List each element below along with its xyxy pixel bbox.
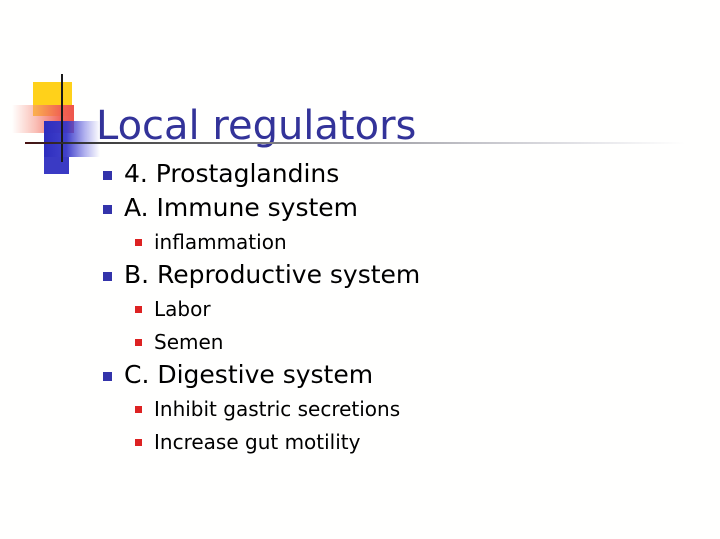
bullet-item-label: Labor <box>154 295 211 323</box>
presentation-slide: Local regulators 4. ProstaglandinsA. Imm… <box>0 0 720 539</box>
logo-yellow-square-icon <box>33 82 72 116</box>
bullet-item-label: C. Digestive system <box>124 359 373 391</box>
bullet-item-label: inflammation <box>154 228 287 256</box>
bullet-square-red-icon <box>135 406 142 413</box>
bullet-square-blue-icon <box>103 205 112 214</box>
bullet-item: A. Immune system <box>0 192 720 226</box>
bullet-item: 4. Prostaglandins <box>0 158 720 192</box>
bullet-square-red-icon <box>135 339 142 346</box>
logo-red-gradient-bar-icon <box>12 105 74 133</box>
bullet-item-label: Inhibit gastric secretions <box>154 395 400 423</box>
bullet-item-label: B. Reproductive system <box>124 259 420 291</box>
logo-blue-gradient-square-icon <box>44 121 100 157</box>
bullet-item-label: A. Immune system <box>124 192 358 224</box>
bullet-item-label: 4. Prostaglandins <box>124 158 339 190</box>
bullet-item: inflammation <box>0 226 720 259</box>
bullet-item: Inhibit gastric secretions <box>0 393 720 426</box>
bullet-square-blue-icon <box>103 272 112 281</box>
bullet-square-red-icon <box>135 306 142 313</box>
bullet-item: B. Reproductive system <box>0 259 720 293</box>
bullet-item: C. Digestive system <box>0 359 720 393</box>
title-divider <box>25 142 685 144</box>
bullet-item: Labor <box>0 293 720 326</box>
bullet-square-red-icon <box>135 239 142 246</box>
bullet-item: Semen <box>0 326 720 359</box>
bullet-square-blue-icon <box>103 372 112 381</box>
bullet-item-label: Increase gut motility <box>154 428 360 456</box>
bullet-square-red-icon <box>135 439 142 446</box>
bullet-item-label: Semen <box>154 328 223 356</box>
bullet-item: Increase gut motility <box>0 426 720 459</box>
slide-bullet-list: 4. ProstaglandinsA. Immune systeminflamm… <box>0 158 720 459</box>
bullet-square-blue-icon <box>103 171 112 180</box>
logo-vertical-line-icon <box>61 74 63 162</box>
